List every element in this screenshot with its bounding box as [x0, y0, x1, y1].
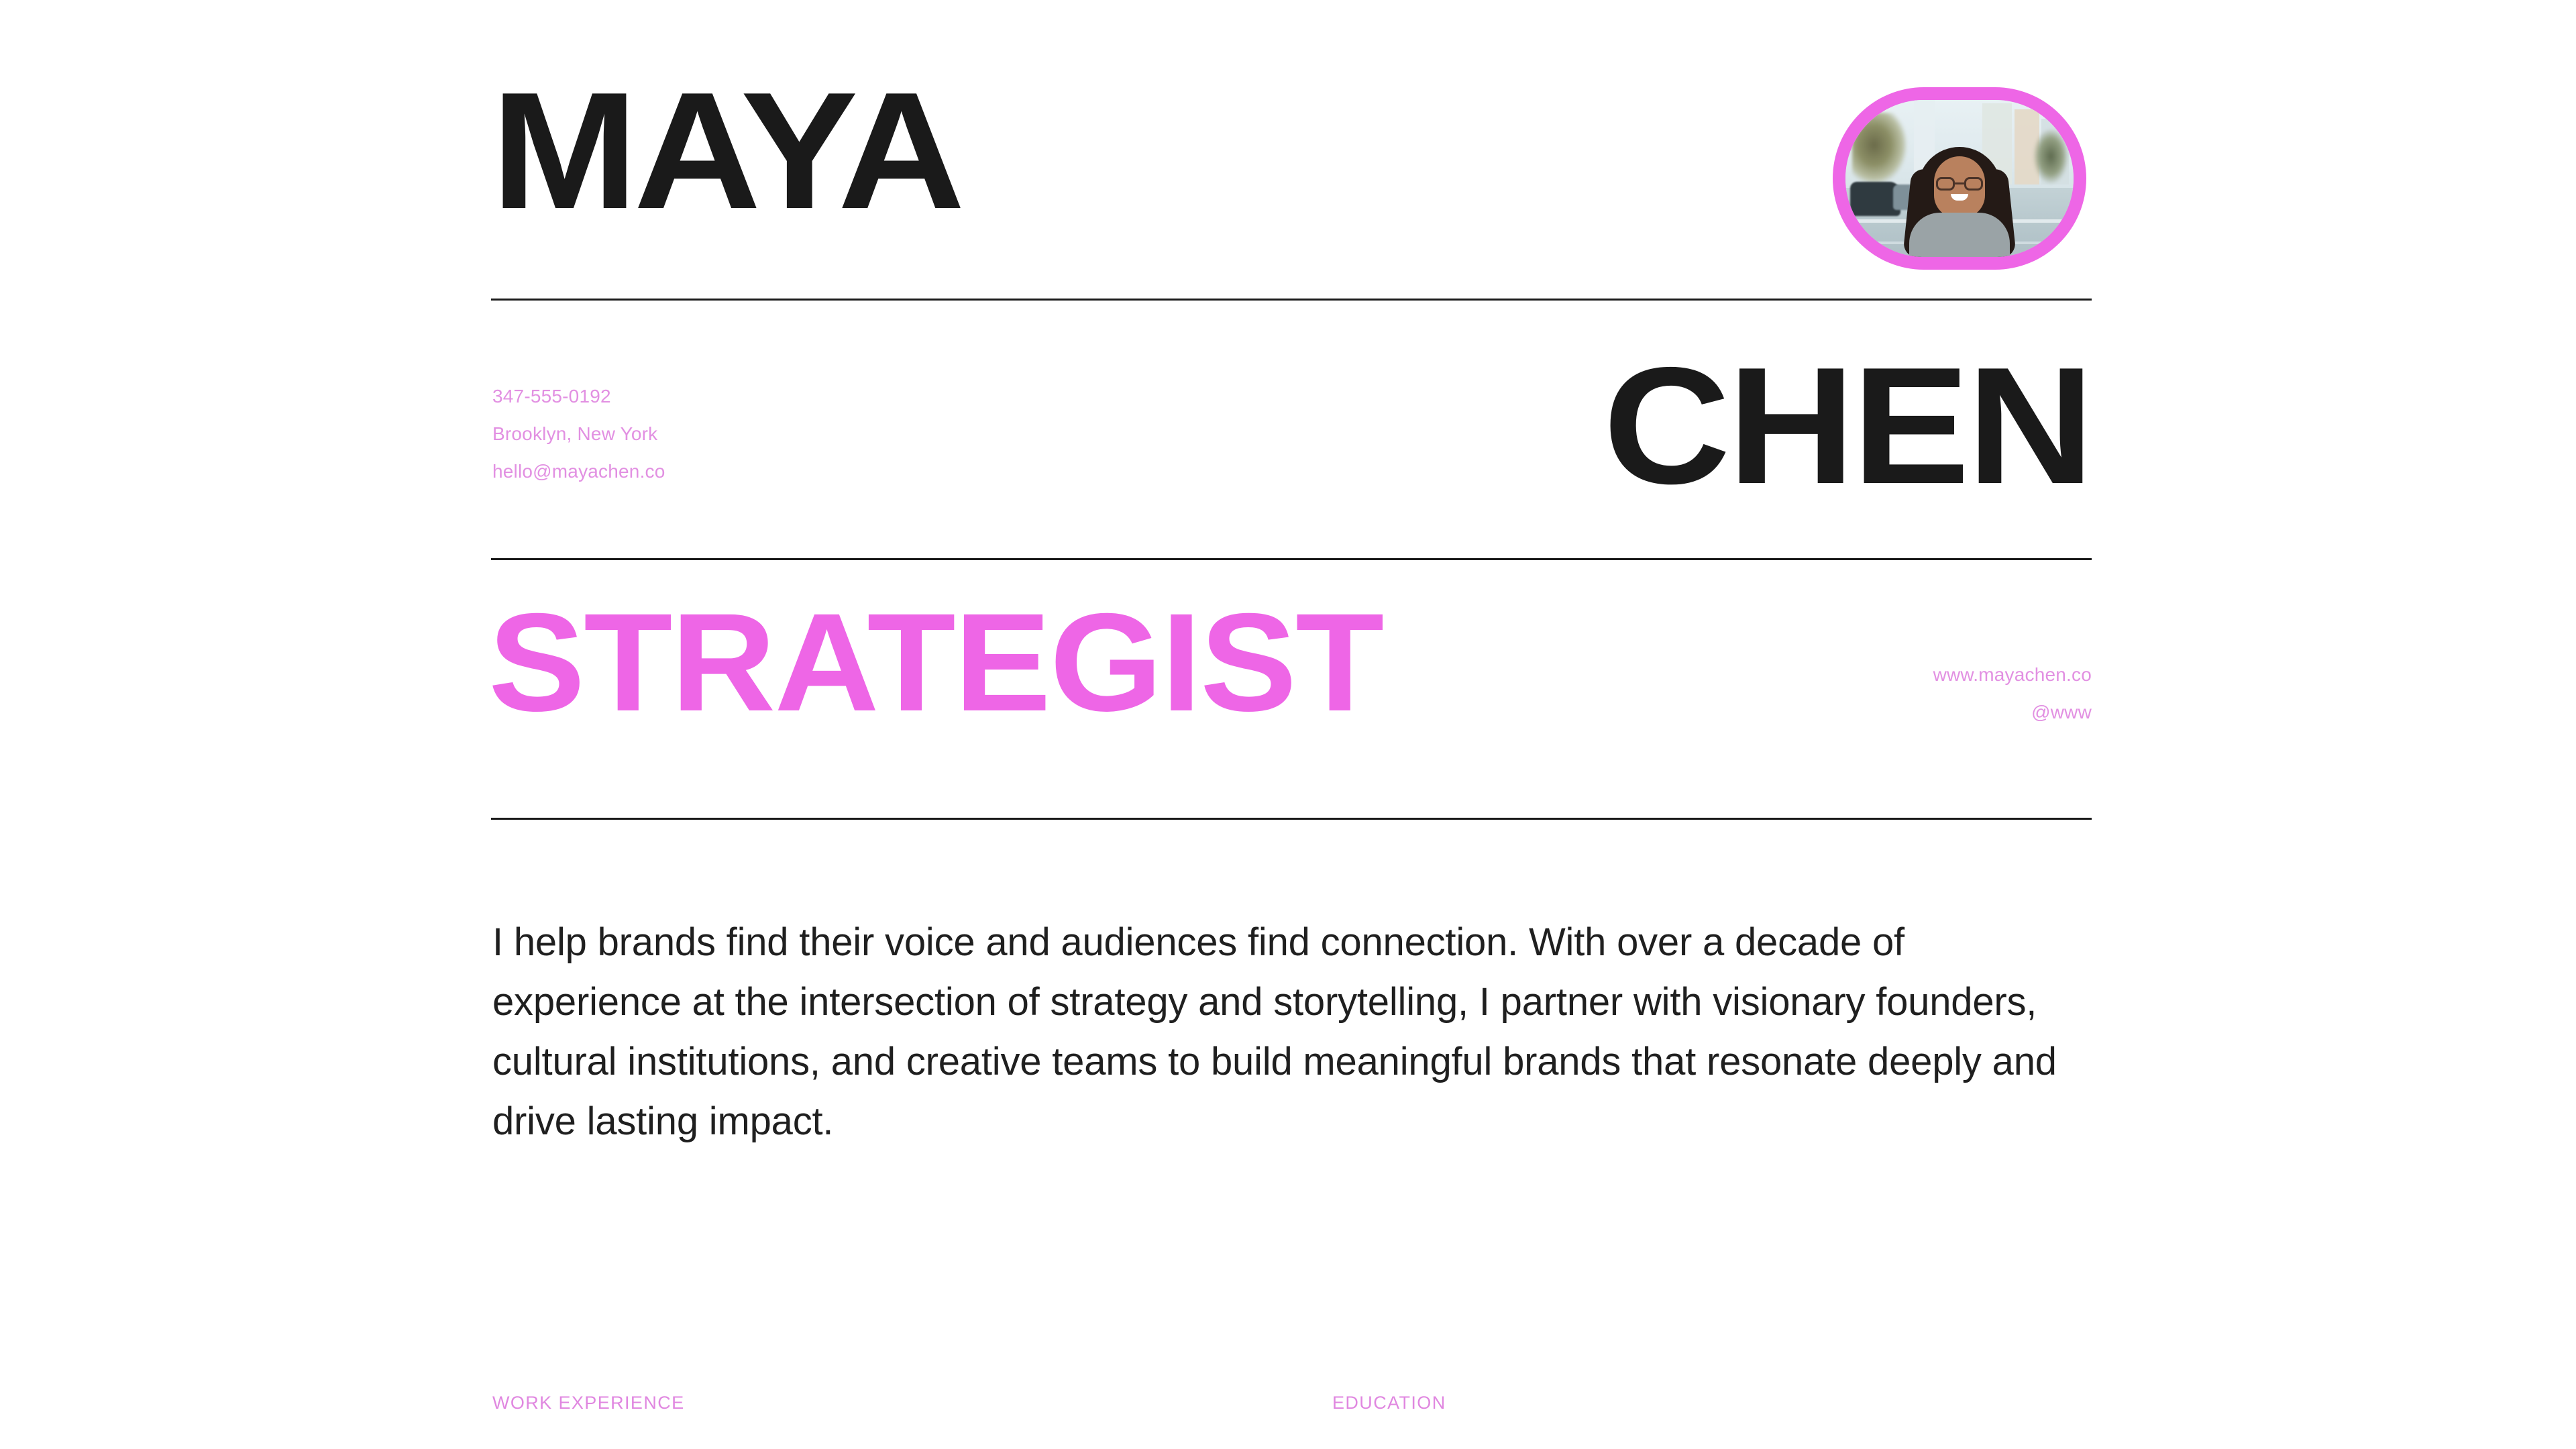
- contact-location: Brooklyn, New York: [492, 415, 1096, 453]
- avatar: [1833, 87, 2086, 270]
- avatar-photo: [1845, 100, 2074, 257]
- photo-tree: [2033, 128, 2069, 184]
- contact-email[interactable]: hello@mayachen.co: [492, 453, 1096, 490]
- social-handle[interactable]: @www: [1622, 694, 2092, 731]
- resume-page: MAYA: [0, 0, 2576, 1449]
- glasses-icon: [1936, 177, 1983, 191]
- header-row: MAYA: [491, 67, 2092, 288]
- links-block: www.mayachen.co @www: [1622, 656, 2092, 731]
- contact-block: 347-555-0192 Brooklyn, New York hello@ma…: [492, 378, 1096, 490]
- first-name: MAYA: [491, 67, 961, 233]
- bio-paragraph: I help brands find their voice and audie…: [492, 912, 2096, 1151]
- photo-car: [1850, 182, 1900, 216]
- section-heading-work-experience: WORK EXPERIENCE: [492, 1392, 685, 1413]
- contact-phone[interactable]: 347-555-0192: [492, 378, 1096, 415]
- divider-middle: [491, 558, 2092, 560]
- website-link[interactable]: www.mayachen.co: [1622, 656, 2092, 694]
- last-name: CHEN: [1603, 342, 2092, 508]
- photo-body: [1909, 213, 2010, 257]
- role-title: STRATEGIST: [488, 593, 1383, 733]
- photo-tree: [1852, 113, 1907, 185]
- divider-bottom: [491, 818, 2092, 820]
- section-heading-education: EDUCATION: [1332, 1392, 1446, 1413]
- divider-top: [491, 299, 2092, 301]
